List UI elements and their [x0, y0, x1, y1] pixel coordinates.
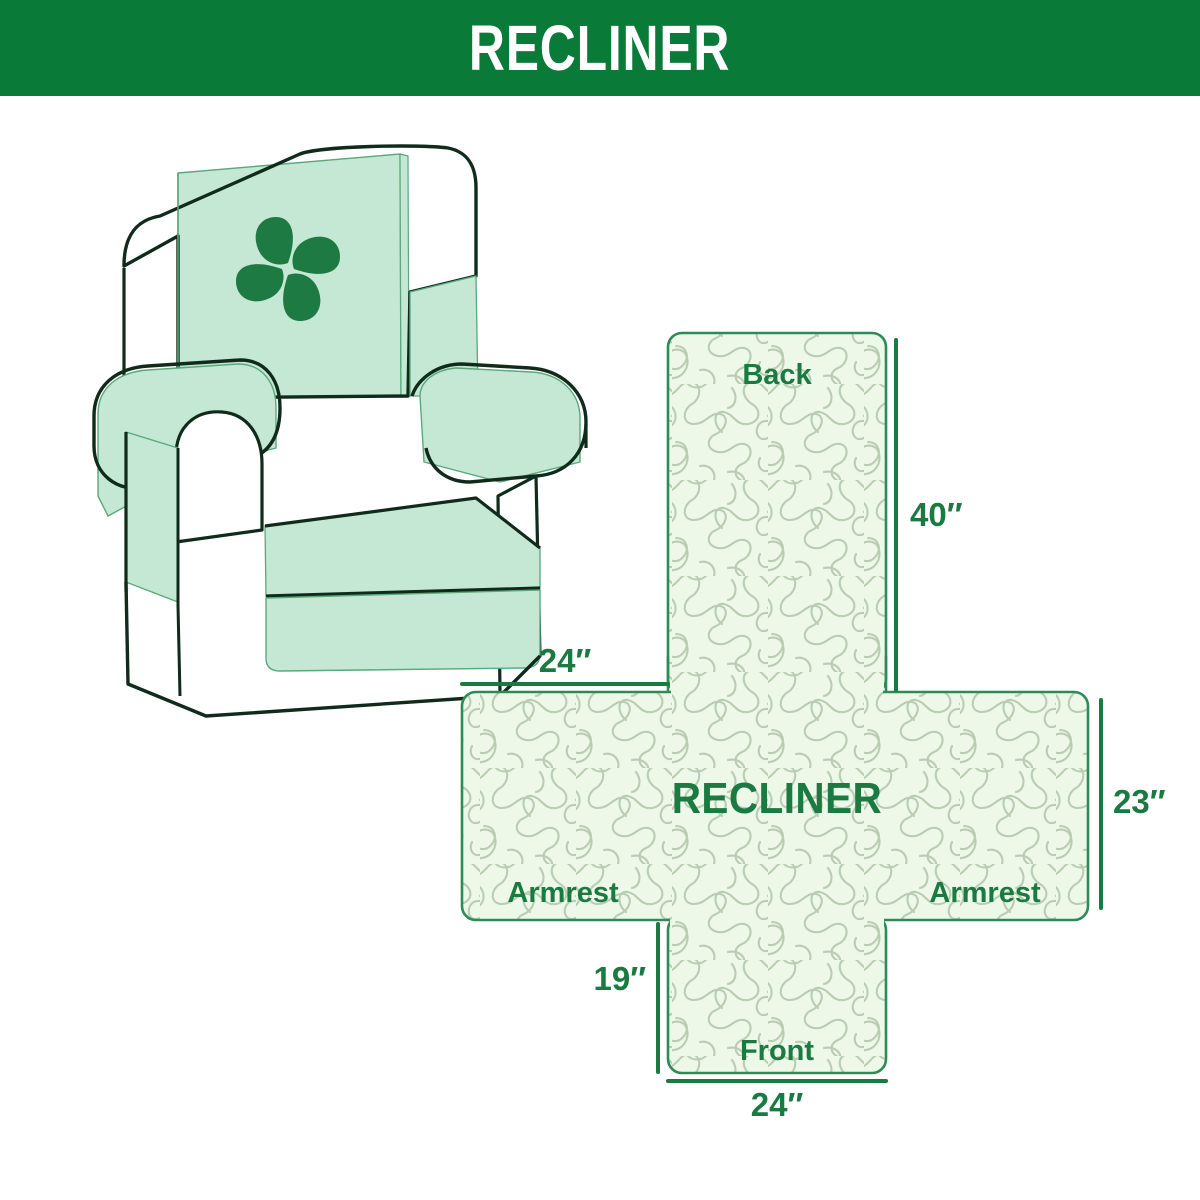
dimension-front-height: 19″	[593, 924, 658, 1072]
stage-svg: Back RECLINER Armrest Armrest Front 40″ …	[0, 96, 1200, 1200]
chair-front-skirt	[266, 590, 540, 671]
armchair-illustration	[94, 146, 586, 716]
chair-left-armrest	[94, 360, 280, 606]
dimension-seat-depth-label: 23″	[1113, 783, 1166, 820]
panel-label-front: Front	[740, 1035, 814, 1067]
dimension-back-height: 40″	[896, 340, 963, 690]
panel-label-armrest-left: Armrest	[507, 877, 619, 909]
dimension-seat-depth: 23″	[1101, 700, 1166, 908]
dimension-back-height-label: 40″	[910, 496, 963, 533]
diagram-stage: Back RECLINER Armrest Armrest Front 40″ …	[0, 96, 1200, 1200]
dimension-front-width: 24″	[668, 1081, 886, 1123]
panel-label-armrest-right: Armrest	[929, 877, 1041, 909]
dimension-back-width-label: 24″	[539, 642, 592, 679]
panel-label-back: Back	[742, 359, 812, 391]
dimension-front-width-label: 24″	[751, 1086, 804, 1123]
dimension-front-height-label: 19″	[593, 960, 646, 997]
page-title: RECLINER	[469, 16, 730, 80]
diagram-center-label: RECLINER	[672, 773, 883, 822]
header-banner: RECLINER	[0, 0, 1200, 96]
